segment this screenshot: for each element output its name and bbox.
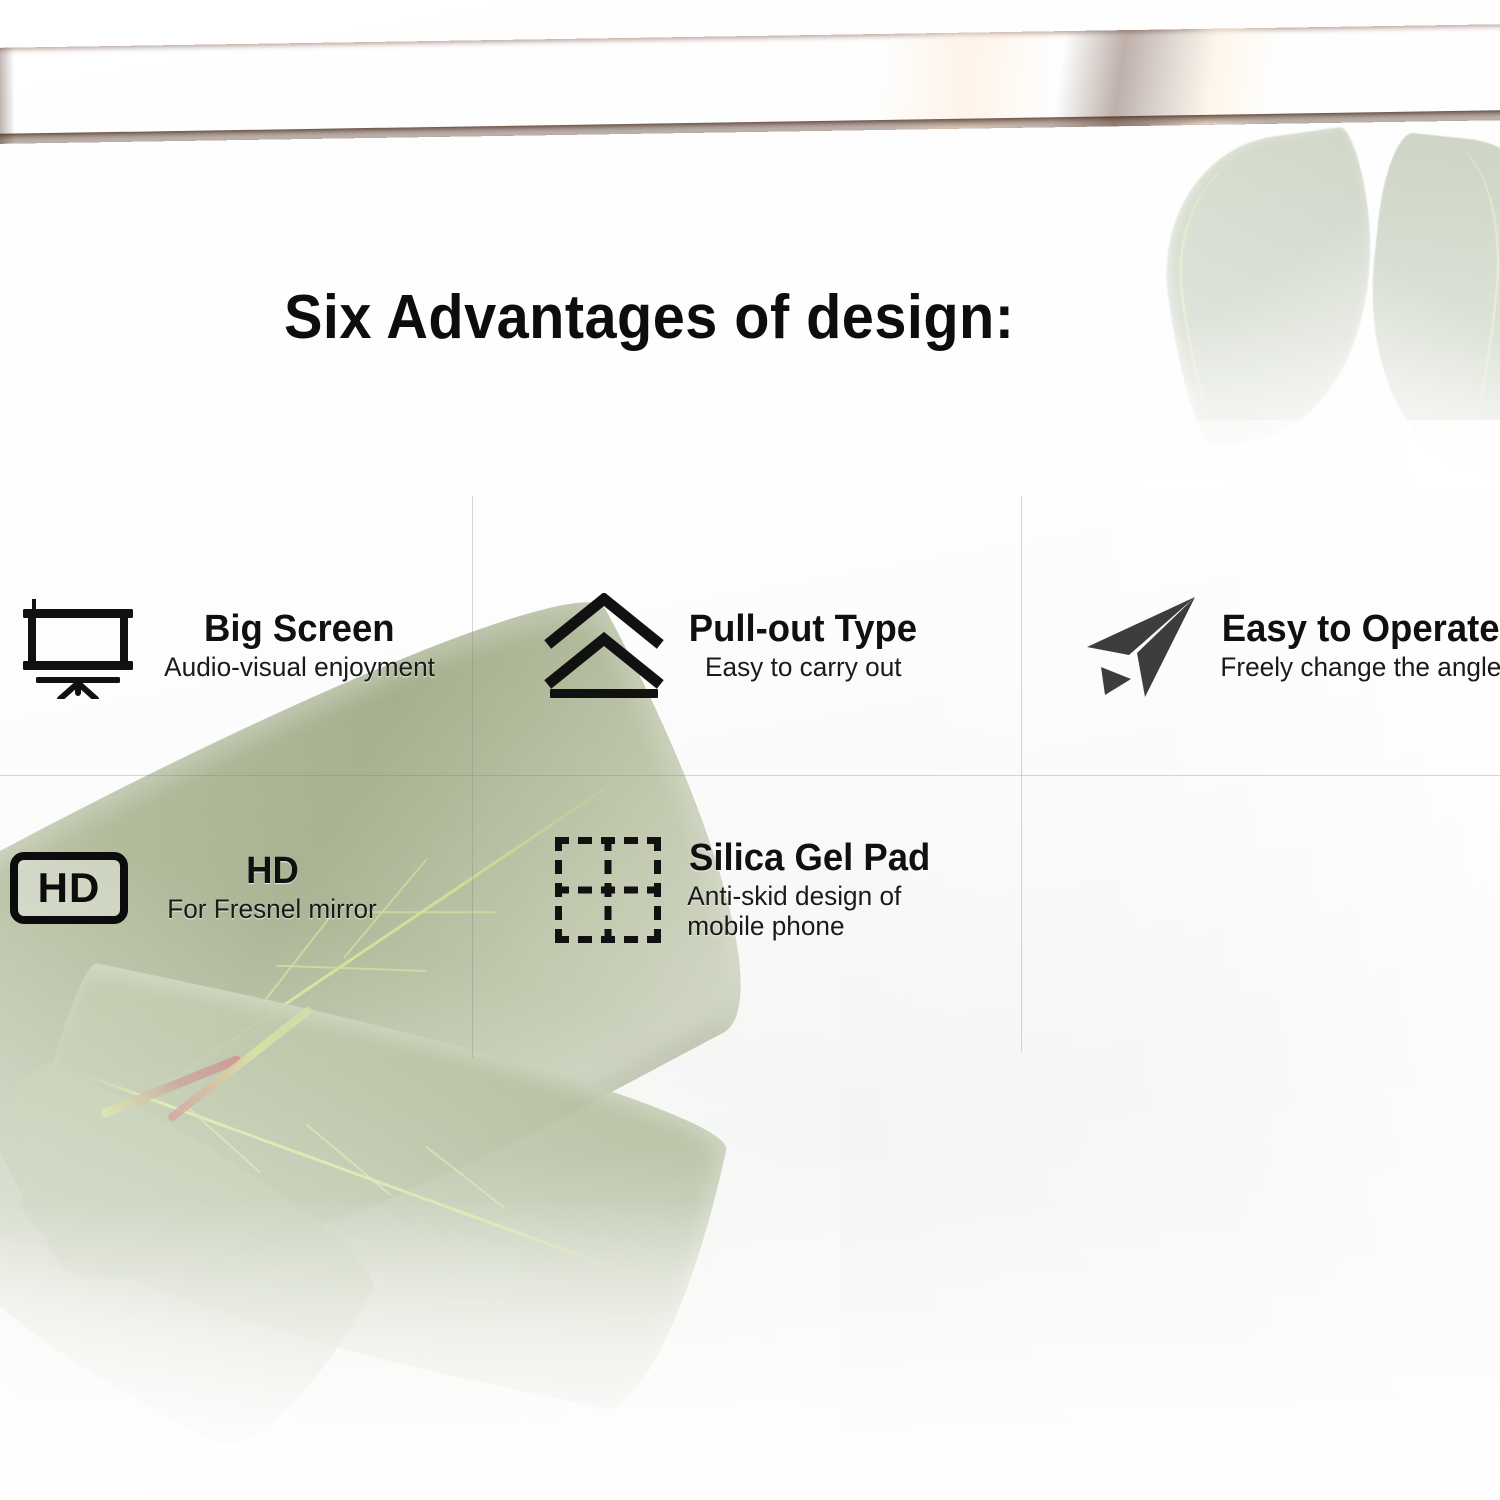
feature-text-silica-gel-pad: Silica Gel Pad Anti-skid design of mobil… (684, 839, 935, 941)
product-feature-infographic: Six Advantages of design: Big Screen Aud… (0, 0, 1500, 1500)
leaf-vein (425, 1146, 505, 1209)
feature-item-big-screen: Big Screen Audio-visual enjoyment (18, 592, 439, 700)
feature-item-pull-out-type: Pull-out Type Easy to carry out (540, 592, 922, 700)
wood-edge-shadow (0, 48, 16, 144)
feature-title: HD (246, 852, 299, 891)
feature-item-silica-gel-pad: Silica Gel Pad Anti-skid design of mobil… (548, 832, 935, 948)
hd-badge-icon: HD (6, 848, 132, 928)
feature-title: Easy to Operate (1222, 610, 1500, 649)
leaf-top-right-whitewash (1140, 130, 1500, 490)
feature-subtitle: Anti-skid design of mobile phone (687, 881, 901, 941)
double-chevron-up-icon (540, 592, 668, 700)
feature-subtitle: For Fresnel mirror (167, 894, 377, 924)
feature-title: Big Screen (204, 610, 395, 649)
dashed-grid-icon (548, 832, 668, 948)
paper-plane-icon (1082, 592, 1202, 700)
feature-text-hd: HD For Fresnel mirror (164, 852, 380, 924)
feature-text-big-screen: Big Screen Audio-visual enjoyment (160, 610, 439, 682)
feature-subtitle: Freely change the angle (1220, 652, 1500, 682)
projector-screen-icon (18, 592, 138, 700)
feature-item-easy-to-operate: Easy to Operate Freely change the angle (1082, 592, 1500, 700)
feature-subtitle: Easy to carry out (705, 652, 902, 682)
feature-text-easy-to-operate: Easy to Operate Freely change the angle (1216, 610, 1500, 682)
feature-title: Pull-out Type (689, 610, 917, 649)
feature-text-pull-out-type: Pull-out Type Easy to carry out (684, 610, 922, 682)
hd-badge-label: HD (10, 852, 128, 924)
leaf-vein (276, 965, 426, 972)
feature-item-hd: HD HD For Fresnel mirror (6, 848, 380, 928)
page-title: Six Advantages of design: (284, 282, 1014, 353)
dashed-grid-shape (555, 837, 661, 943)
feature-title: Silica Gel Pad (689, 839, 930, 878)
dashed-grid-horizontal (555, 887, 661, 894)
feature-subtitle: Audio-visual enjoyment (164, 652, 435, 682)
